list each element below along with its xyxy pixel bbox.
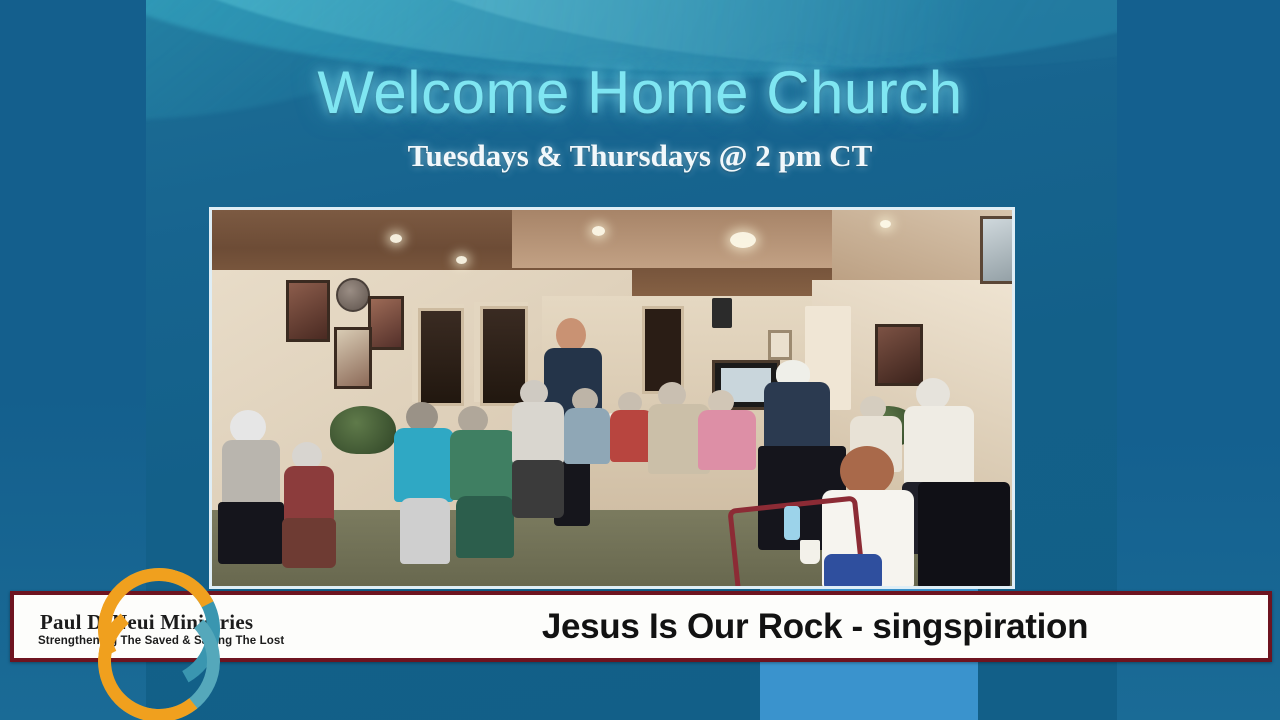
person-legs	[400, 498, 450, 564]
ceiling-light-icon	[390, 234, 402, 243]
chair	[918, 482, 1010, 589]
chair	[512, 460, 564, 518]
person-torso	[394, 428, 454, 502]
bag-icon	[824, 554, 882, 589]
interior-door	[418, 308, 464, 406]
wall-speaker-icon	[712, 298, 732, 328]
wall-art	[768, 330, 792, 360]
seated-person	[392, 402, 458, 570]
person-torso	[222, 440, 280, 506]
person-head	[556, 318, 586, 352]
wall-clock-icon	[336, 278, 370, 312]
potted-plant-icon	[330, 406, 396, 454]
seated-person	[282, 442, 338, 572]
video-frame: Welcome Home Church Tuesdays & Thursdays…	[0, 0, 1280, 720]
person-torso	[698, 410, 756, 470]
wall-art	[286, 280, 330, 342]
person-head	[840, 446, 894, 496]
wall-art	[980, 216, 1015, 284]
person-legs	[456, 496, 514, 558]
person-torso	[764, 382, 830, 452]
seated-person	[564, 388, 616, 508]
person-torso	[284, 466, 334, 522]
service-photo	[209, 207, 1015, 589]
water-bottle-icon	[784, 506, 800, 540]
slide-title: Welcome Home Church	[0, 58, 1280, 127]
slide-subtitle: Tuesdays & Thursdays @ 2 pm CT	[0, 138, 1280, 174]
ceiling-light-icon	[456, 256, 467, 264]
person-torso	[450, 430, 516, 500]
wall-art	[334, 327, 372, 389]
interior-door	[642, 306, 684, 394]
seated-person	[512, 380, 572, 530]
wall-art	[875, 324, 923, 386]
chair	[282, 518, 336, 568]
ceiling-light-icon	[880, 220, 891, 228]
wheelchair	[218, 502, 284, 564]
person-torso	[512, 402, 564, 464]
seated-person	[218, 410, 288, 570]
ceiling-light-icon	[592, 226, 605, 236]
ceiling-light-icon	[730, 232, 756, 248]
wall-art	[368, 296, 404, 350]
person-torso	[564, 408, 610, 464]
cup-icon	[800, 540, 820, 564]
video-title: Jesus Is Our Rock - singspiration	[374, 595, 1256, 658]
person-head	[230, 410, 266, 444]
